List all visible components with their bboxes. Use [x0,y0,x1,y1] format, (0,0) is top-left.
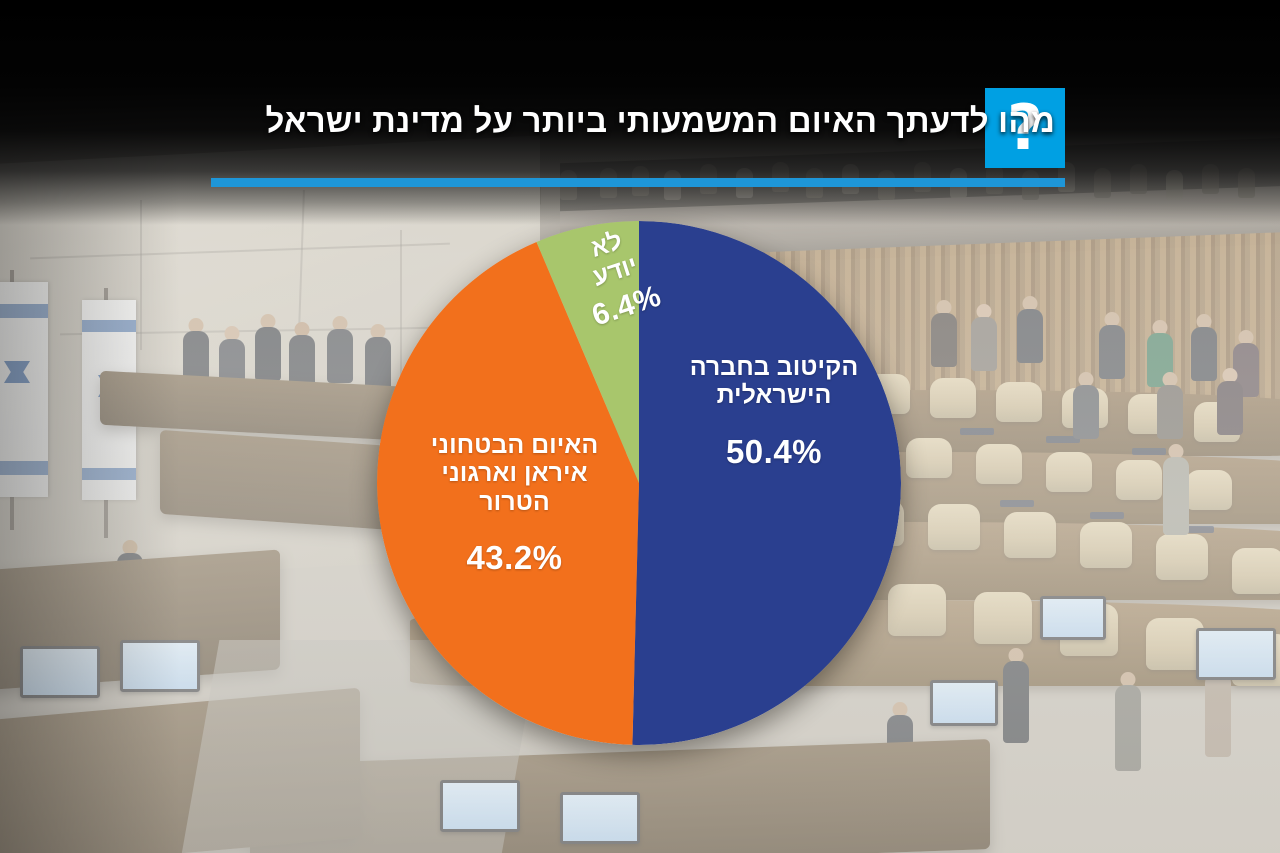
slice-label-line-3: הטרור [479,488,549,516]
slice-label-line-2: איראן וארגוני [441,459,587,487]
pie-chart: הקיטוב בחברה הישראלית 50.4% האיום הבטחונ… [377,221,901,745]
title-underline-rule [211,178,1065,187]
infographic-canvas: ? מהו לדעתך האיום המשמעותי ביותר על מדינ… [0,0,1280,853]
slice-value-security-threat: 43.2% [397,539,632,576]
slice-label-polarization: הקיטוב בחברה הישראלית 50.4% [664,353,884,470]
header: ? מהו לדעתך האיום המשמעותי ביותר על מדינ… [0,80,1280,190]
slice-value-polarization: 50.4% [664,433,884,470]
slice-label-line-2: הישראלית [717,381,832,409]
slice-label-line-1: האיום הבטחוני [431,431,598,459]
slice-label-line-1: הקיטוב בחברה [690,353,859,381]
slice-label-security-threat: האיום הבטחוני איראן וארגוני הטרור 43.2% [397,431,632,576]
page-title: מהו לדעתך האיום המשמעותי ביותר על מדינת … [295,102,1055,140]
